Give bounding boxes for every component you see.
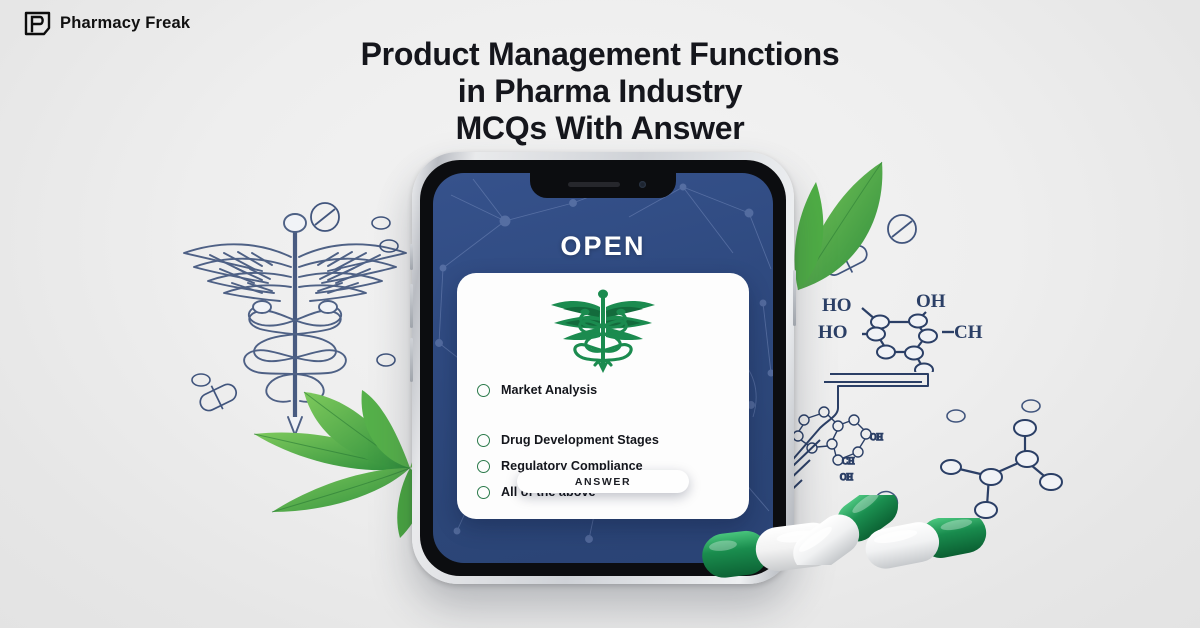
pill-dot-icon (375, 352, 397, 368)
earpiece-speaker (568, 182, 620, 187)
pill-dot-icon (190, 372, 212, 388)
caduceus-icon (457, 287, 749, 373)
p-in-square-logo-icon (24, 10, 51, 37)
brand-logo[interactable]: Pharmacy Freak (24, 10, 190, 37)
phone-power-button[interactable] (793, 270, 796, 326)
svg-text:OH: OH (870, 432, 883, 442)
option-label: Drug Development Stages (501, 433, 659, 447)
phone-volume-up-button[interactable] (410, 284, 413, 328)
options-spacer (477, 403, 749, 427)
option-label: Market Analysis (501, 383, 597, 397)
phone-bezel: OPEN (420, 160, 786, 576)
phone-mute-switch[interactable] (410, 244, 413, 270)
answer-button-label: ANSWER (575, 476, 631, 488)
radio-icon[interactable] (477, 384, 490, 397)
pill-dot-icon (370, 215, 392, 231)
capsule-icon (195, 380, 241, 414)
phone-screen: OPEN (433, 173, 773, 563)
capsule-pill (830, 518, 990, 578)
svg-text:CH: CH (954, 322, 983, 343)
title-line-3: MCQs With Answer (0, 110, 1200, 147)
tablet-icon (305, 200, 345, 234)
molecule-icon (925, 418, 1065, 528)
title-line-1: Product Management Functions (0, 36, 1200, 73)
phone-notch (530, 173, 676, 198)
title-line-2: in Pharma Industry (0, 73, 1200, 110)
screen-header-open: OPEN (433, 231, 773, 262)
page-title: Product Management Functions in Pharma I… (0, 36, 1200, 147)
front-camera-icon (639, 181, 646, 188)
option-market-analysis[interactable]: Market Analysis (477, 377, 749, 403)
svg-text:OH: OH (916, 291, 946, 312)
radio-icon[interactable] (477, 486, 490, 499)
pill-dot-icon (378, 238, 400, 254)
radio-icon[interactable] (477, 460, 490, 473)
radio-icon[interactable] (477, 434, 490, 447)
svg-text:OH: OH (840, 472, 853, 482)
phone-volume-down-button[interactable] (410, 338, 413, 382)
brand-name: Pharmacy Freak (60, 14, 190, 33)
svg-text:HO: HO (818, 322, 848, 343)
answer-button[interactable]: ANSWER (517, 470, 689, 493)
pill-dot-icon (945, 408, 967, 424)
pill-dot-icon (1020, 398, 1042, 414)
option-drug-development-stages[interactable]: Drug Development Stages (477, 427, 749, 453)
leaf-icon (790, 160, 900, 300)
svg-text:CH: CH (842, 456, 855, 466)
